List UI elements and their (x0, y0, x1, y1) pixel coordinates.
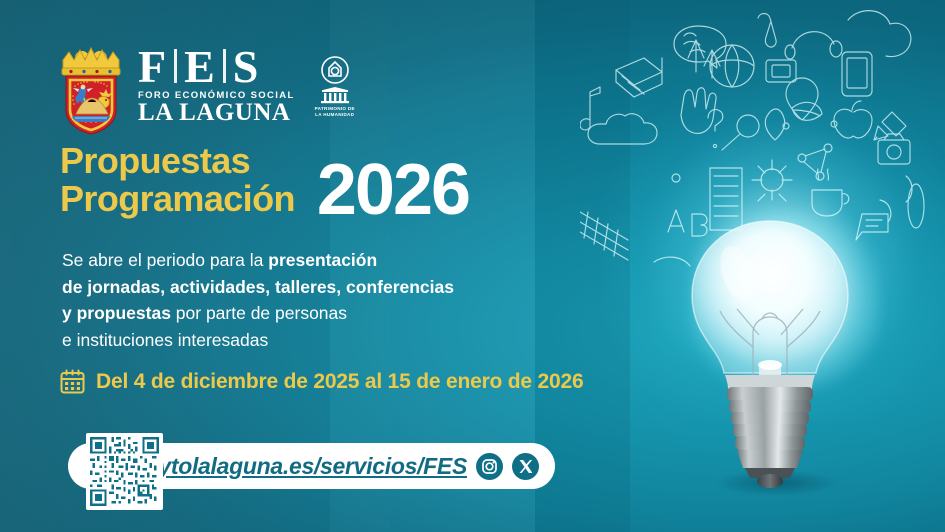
fes-separator-2 (223, 49, 226, 83)
website-url-link[interactable]: aytolalaguna.es/servicios/FES (146, 453, 467, 480)
la-laguna-crest-icon (58, 36, 124, 136)
date-text: Del 4 de diciembre de 2025 al 15 de ener… (96, 370, 583, 394)
instagram-icon[interactable] (476, 453, 503, 480)
desc-l2-bold: de jornadas, actividades, talleres, conf… (62, 277, 454, 297)
qr-code-image[interactable] (90, 437, 159, 506)
desc-l3-plain: por parte de personas (171, 303, 347, 323)
fes-separator-1 (174, 49, 177, 83)
desc-l1-plain: Se abre el periodo para la (62, 250, 268, 270)
unesco-temple-icon (320, 87, 350, 104)
headline-line-2: Programación (60, 181, 295, 217)
headline-year: 2026 (317, 160, 469, 222)
fes-letter-f: F (138, 46, 167, 88)
fes-letter-s: S (233, 46, 260, 88)
promo-banner: F E S FORO ECONÓMICO SOCIAL LA LAGUNA (0, 0, 945, 532)
unesco-caption-line1: PATRIMONIO DE (315, 106, 355, 111)
date-block: Del 4 de diciembre de 2025 al 15 de ener… (60, 369, 583, 394)
headline-line-1: Propuestas (60, 143, 295, 179)
unesco-emblem-icon (320, 55, 350, 85)
unesco-caption-line2: LA HUMANIDAD (315, 112, 354, 117)
fes-letter-e: E (184, 46, 216, 88)
fes-city-name: LA LAGUNA (138, 100, 295, 126)
unesco-caption: PATRIMONIO DE LA HUMANIDAD (315, 106, 355, 117)
desc-l4-plain: e instituciones interesadas (62, 330, 268, 350)
description-text: Se abre el periodo para la presentación … (62, 247, 532, 353)
desc-l1-bold: presentación (268, 250, 377, 270)
calendar-icon (60, 369, 85, 394)
qr-code[interactable] (86, 433, 163, 510)
logo-lockup: F E S FORO ECONÓMICO SOCIAL LA LAGUNA (58, 36, 355, 136)
headline-block: Propuestas Programación 2026 (60, 143, 469, 217)
desc-l3-bold: y propuestas (62, 303, 171, 323)
fes-wordmark: F E S FORO ECONÓMICO SOCIAL LA LAGUNA (138, 46, 295, 126)
x-twitter-icon[interactable] (512, 453, 539, 480)
unesco-heritage-logo: PATRIMONIO DE LA HUMANIDAD (315, 55, 355, 117)
fes-letters: F E S (138, 46, 295, 88)
